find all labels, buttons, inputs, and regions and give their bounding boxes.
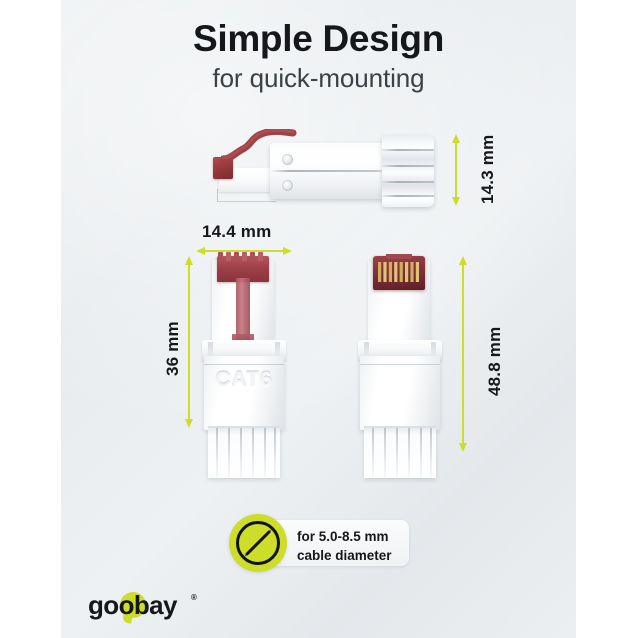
dimension-label: 14.4 mm (202, 222, 271, 242)
product-top-connector-side-view (197, 127, 435, 215)
logo-trademark: ® (191, 593, 197, 602)
logo-text: goobay (88, 590, 177, 620)
dimension-arrow-vertical-icon (455, 256, 471, 452)
connector-notch (386, 254, 412, 259)
cable-boot-fluted (364, 428, 436, 478)
dimension-label: 48.8 mm (485, 327, 505, 396)
dimension-height-right: 48.8 mm (455, 256, 471, 457)
cable-boot-ridged (382, 135, 434, 207)
connector-dimple (282, 154, 293, 165)
connector-body-line (360, 364, 440, 365)
badge-text-line1: for 5.0-8.5 mm (297, 527, 409, 546)
red-pull-stem (236, 278, 250, 340)
brand-logo: goobay ® (88, 590, 208, 624)
heading-block: Simple Design for quick-mounting (61, 18, 576, 95)
cable-diameter-icon (234, 519, 282, 567)
dimension-label: 14.3 mm (478, 135, 498, 204)
dimension-arrow-vertical-icon (448, 134, 464, 206)
connector-lower-lip (217, 189, 276, 202)
infographic-canvas: Simple Design for quick-mounting 14 (0, 0, 638, 638)
cat6-emboss-label: CAT6 (204, 368, 284, 392)
badge-text: for 5.0-8.5 mm cable diameter (297, 527, 409, 565)
product-left-connector-cat6: CAT6 (196, 252, 292, 480)
connector-dimple (282, 180, 293, 191)
connector-body-line (204, 364, 284, 365)
dimension-height-top: 14.3 mm (448, 134, 464, 211)
page-title: Simple Design (61, 18, 576, 59)
badge-text-line2: cable diameter (297, 546, 409, 565)
dimension-arrow-horizontal-icon (196, 244, 292, 258)
cable-boot-fluted (208, 428, 280, 478)
gold-contact-pins-icon (378, 262, 420, 284)
cable-diameter-badge: for 5.0-8.5 mm cable diameter (229, 514, 409, 572)
connector-shell-split-line (270, 170, 388, 172)
dimension-label: 36 mm (163, 321, 183, 376)
connector-body (360, 356, 440, 430)
product-right-connector-front (352, 252, 448, 480)
dimension-height-left: 36 mm (181, 256, 197, 433)
dimension-arrow-vertical-icon (181, 256, 197, 428)
page-subtitle: for quick-mounting (61, 63, 576, 94)
